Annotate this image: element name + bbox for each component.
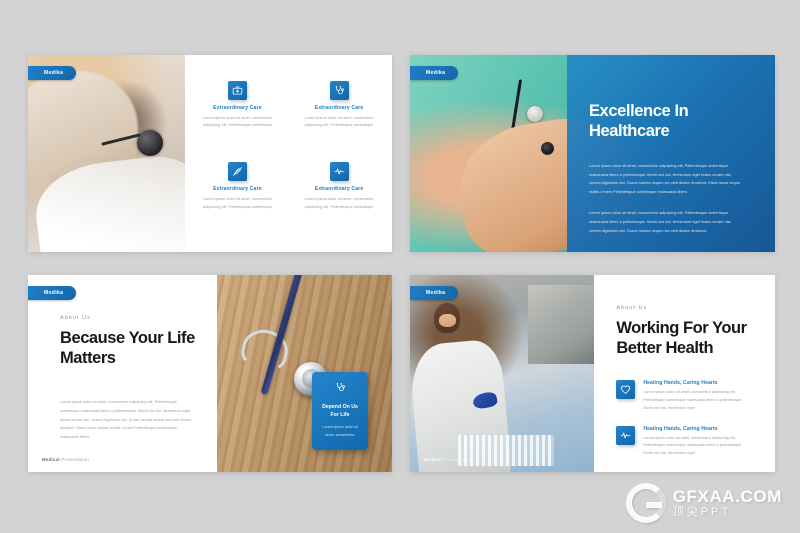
about-text-column xyxy=(28,275,228,472)
footer-bold: Medical xyxy=(424,457,442,462)
feature-item[interactable]: Extraordinary Care Lorem ipsum dolor sit… xyxy=(295,162,383,234)
heartbeat-icon xyxy=(330,162,349,181)
technician-head-detail xyxy=(434,303,460,333)
list-item[interactable]: Healing Hands, Caring Hearts Lorem ipsum… xyxy=(616,380,749,412)
test-tube-rack-detail xyxy=(458,435,554,467)
eyebrow-label: About Us xyxy=(60,315,210,321)
list-item-body: Lorem ipsum dolor sit amet, consectetur … xyxy=(643,389,749,412)
card-title: Depend On Us For Life xyxy=(319,403,361,419)
brand-badge: Medika xyxy=(410,286,458,300)
feature-body: Lorem ipsum dolor sit amet, consectetur … xyxy=(194,195,282,209)
hero-paragraph-2: Lorem ipsum dolor sit amet, consectetur … xyxy=(589,209,744,235)
page-title: Because Your Life Matters xyxy=(60,328,210,368)
brand-badge: Medika xyxy=(28,286,76,300)
list-item-text: Healing Hands, Caring Hearts Lorem ipsum… xyxy=(643,380,749,412)
brand-badge: Medika xyxy=(28,66,76,80)
feature-body: Lorem ipsum dolor sit amet, consectetur … xyxy=(295,195,383,209)
footer-light: Presentation xyxy=(60,457,89,462)
slide-footer: Medical Presentation xyxy=(42,457,89,462)
health-text-column: About Us Working For Your Better Health … xyxy=(594,275,775,472)
health-feature-list: Healing Hands, Caring Hearts Lorem ipsum… xyxy=(616,380,749,458)
feature-body: Lorem ipsum dolor sit amet, consectetur … xyxy=(295,114,383,128)
feature-item[interactable]: Extraordinary Care Lorem ipsum dolor sit… xyxy=(194,81,282,153)
hero-paragraph-1: Lorem ipsum dolor sit amet, consectetur … xyxy=(589,162,744,197)
lab-bench-detail xyxy=(528,285,594,364)
feature-title: Extraordinary Care xyxy=(194,105,282,111)
list-item-title: Healing Hands, Caring Hearts xyxy=(643,380,749,386)
gfxaa-logo-icon xyxy=(626,483,666,523)
footer-bold: Medical xyxy=(42,237,60,242)
hero-text-panel: Excellence In Healthcare Lorem ipsum dol… xyxy=(567,55,775,252)
heartbeat-icon xyxy=(616,426,635,445)
stethoscope-icon xyxy=(330,81,349,100)
stethoscope-photo-detail xyxy=(137,130,163,156)
slide-services-grid[interactable]: Medika Extraordinary Care Lorem ipsum do… xyxy=(28,55,392,252)
feature-item[interactable]: Extraordinary Care Lorem ipsum dolor sit… xyxy=(194,162,282,234)
patient-examination-photo xyxy=(28,55,185,252)
feature-item[interactable]: Extraordinary Care Lorem ipsum dolor sit… xyxy=(295,81,383,153)
wristwatch-detail xyxy=(541,142,554,155)
depend-on-us-card[interactable]: Depend On Us For Life Lorem ipsum dolor … xyxy=(312,372,368,450)
feature-title: Extraordinary Care xyxy=(194,186,282,192)
card-body: Lorem ipsum dolor sit amet, consectetur xyxy=(319,424,361,439)
features-grid: Extraordinary Care Lorem ipsum dolor sit… xyxy=(194,81,383,235)
medical-kit-icon xyxy=(228,81,247,100)
watermark-domain: GFXAA.COM xyxy=(673,487,782,507)
watermark-text: GFXAA.COM 顶尖PPT xyxy=(673,487,782,519)
lab-technician-photo xyxy=(410,275,594,472)
stethoscope-head-detail xyxy=(527,106,543,122)
feature-title: Extraordinary Care xyxy=(295,105,383,111)
heart-icon xyxy=(616,380,635,399)
footer-bold: Medical xyxy=(42,457,60,462)
footer-light: Presentation xyxy=(60,237,89,242)
list-item[interactable]: Healing Hands, Caring Hearts Lorem ipsum… xyxy=(616,426,749,458)
eyebrow-label: About Us xyxy=(616,305,749,311)
list-item-title: Healing Hands, Caring Hearts xyxy=(643,426,749,432)
list-item-body: Lorem ipsum dolor sit amet, consectetur … xyxy=(643,435,749,458)
feature-title: Extraordinary Care xyxy=(295,186,383,192)
slide-footer: Medical Presentation xyxy=(424,457,471,462)
slide-footer: Medical Presentation xyxy=(42,237,89,242)
gfxaa-watermark: GFXAA.COM 顶尖PPT xyxy=(626,483,782,523)
brand-badge: Medika xyxy=(410,66,458,80)
page-title: Working For Your Better Health xyxy=(616,318,749,358)
list-item-text: Healing Hands, Caring Hearts Lorem ipsum… xyxy=(643,426,749,458)
feature-body: Lorem ipsum dolor sit amet, consectetur … xyxy=(194,114,282,128)
slide-better-health[interactable]: Medika About Us Working For Your Better … xyxy=(410,275,775,472)
slide-about-us[interactable]: Medika About Us Because Your Life Matter… xyxy=(28,275,392,472)
footer-light: Presentation xyxy=(442,457,471,462)
slide-hero-title[interactable]: Medika Excellence In Healthcare Lorem ip… xyxy=(410,55,775,252)
stethoscope-icon xyxy=(335,382,346,393)
syringe-icon xyxy=(228,162,247,181)
watermark-subtitle: 顶尖PPT xyxy=(673,506,782,519)
hero-title: Excellence In Healthcare xyxy=(589,101,749,142)
about-paragraph: Lorem ipsum dolor sit amet, consectetur … xyxy=(60,398,196,442)
slide-board: Medika Extraordinary Care Lorem ipsum do… xyxy=(0,0,800,533)
about-heading-block: About Us Because Your Life Matters xyxy=(60,315,210,368)
